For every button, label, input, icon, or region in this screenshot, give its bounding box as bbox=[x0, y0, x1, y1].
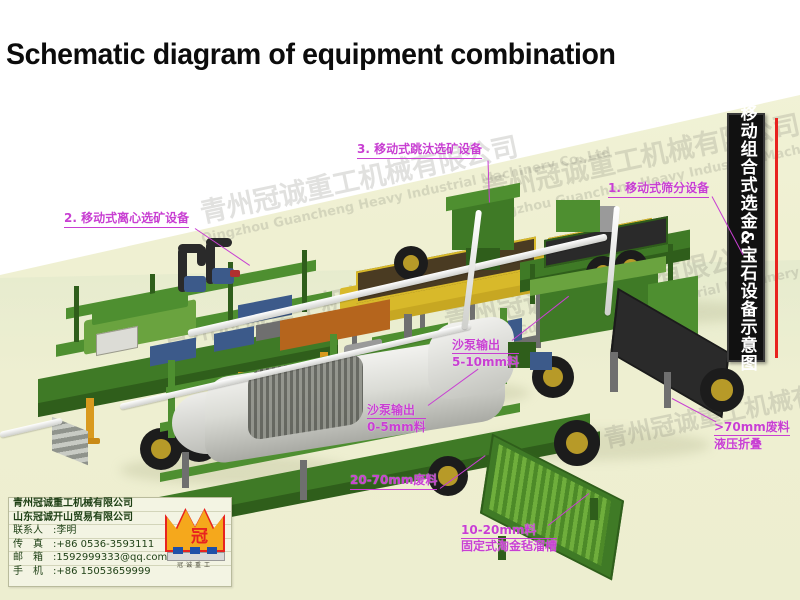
page-title: Schematic diagram of equipment combinati… bbox=[6, 38, 616, 72]
flow-label-sand-pump-0-5: 沙泵输出 0-5mm料 bbox=[367, 403, 426, 435]
contact-key: 传 真 bbox=[13, 539, 53, 552]
contact-key: 邮 箱 bbox=[13, 552, 53, 565]
centrifuge-bowl bbox=[184, 276, 206, 292]
jack-leg bbox=[182, 452, 189, 488]
flow-label-sand-pump-5-10: 沙泵输出 5-10mm料 bbox=[452, 338, 519, 370]
flow-label-line1: 10-20mm料 bbox=[461, 523, 557, 539]
logo-glyph: 冠 bbox=[191, 522, 208, 547]
jack-leg bbox=[300, 460, 307, 500]
trailer-wheel bbox=[554, 420, 600, 466]
logo-block bbox=[173, 547, 183, 554]
contact-value: 1592999333@qq.com bbox=[56, 552, 167, 563]
jack-leg bbox=[664, 372, 671, 408]
contact-key: 手 机 bbox=[13, 566, 53, 579]
logo-block bbox=[207, 547, 217, 554]
flow-label-fixed-sluice: 10-20mm料 固定式淘金毡溜槽 bbox=[461, 523, 557, 554]
callout-jig: 3. 移动式跳汰选矿设备 bbox=[357, 142, 482, 159]
trommel-gearbox bbox=[530, 352, 552, 370]
conveyor-support-leg bbox=[610, 352, 618, 392]
flow-label-line2: 固定式淘金毡溜槽 bbox=[461, 539, 557, 553]
contact-value: +86 15053659999 bbox=[56, 566, 150, 577]
frame-post bbox=[668, 244, 673, 284]
flow-label-line1: 沙泵输出 bbox=[367, 403, 415, 417]
vertical-banner-text: 移动组合式选金&宝石设备示意图 bbox=[737, 104, 754, 372]
frame-post bbox=[74, 286, 79, 342]
company-logo: 冠 冠诚重工 bbox=[165, 508, 225, 570]
callout-centrifugal: 2. 移动式离心选矿设备 bbox=[64, 211, 189, 228]
banner-accent-rule bbox=[775, 118, 778, 358]
exhaust-stack bbox=[404, 314, 412, 338]
flow-label-waste-over-70: >70mm废料 液压折叠 bbox=[714, 420, 790, 452]
sluice-leg bbox=[590, 498, 598, 520]
contact-value: +86 0536-3593111 bbox=[56, 539, 154, 550]
logo-caption: 冠诚重工 bbox=[167, 560, 223, 569]
valve-handle bbox=[230, 270, 240, 277]
flow-label-line2: 5-10mm料 bbox=[452, 353, 519, 370]
trailer-wheel bbox=[700, 368, 744, 412]
flow-label-waste-20-70: 20-70mm废料 bbox=[350, 473, 437, 490]
screen-feed-box bbox=[556, 200, 600, 232]
centrifuge-feed-pipe bbox=[197, 246, 206, 266]
contact-key: 联系人 bbox=[13, 525, 53, 538]
flow-label-line1: >70mm废料 bbox=[714, 420, 790, 434]
callout-screening: 1. 移动式筛分设备 bbox=[608, 181, 709, 198]
schematic-canvas: 青州冠诚重工机械有限公司 Qingzhou Guancheng Heavy In… bbox=[0, 0, 800, 600]
flow-label-line2: 0-5mm料 bbox=[367, 418, 426, 435]
logo-block bbox=[190, 547, 200, 554]
flow-label-line1: 沙泵输出 bbox=[452, 338, 500, 352]
contact-value: 李明 bbox=[56, 525, 76, 536]
flow-label-line2: 液压折叠 bbox=[714, 435, 790, 452]
